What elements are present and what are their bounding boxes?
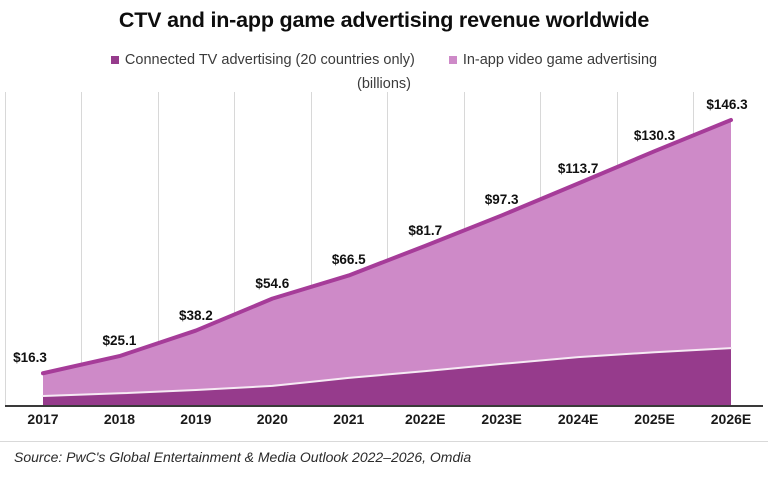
x-axis-label: 2021 bbox=[333, 411, 364, 427]
data-label: $81.7 bbox=[408, 223, 442, 238]
x-axis-labels: 201720182019202020212022E2023E2024E2025E… bbox=[0, 411, 768, 433]
chart-title: CTV and in-app game advertising revenue … bbox=[0, 8, 768, 33]
legend-label-in-app-video-game: In-app video game advertising bbox=[463, 52, 657, 68]
chart-container: CTV and in-app game advertising revenue … bbox=[0, 0, 768, 481]
legend-item-in-app-video-game[interactable]: In-app video game advertising bbox=[449, 52, 657, 68]
data-label: $146.3 bbox=[706, 97, 747, 112]
legend-swatch-in-app-video-game bbox=[449, 56, 457, 64]
legend-label-connected-tv: Connected TV advertising (20 countries o… bbox=[125, 52, 415, 68]
data-label: $97.3 bbox=[485, 192, 519, 207]
source-note: Source: PwC's Global Entertainment & Med… bbox=[14, 449, 471, 465]
x-axis-label: 2026E bbox=[711, 411, 751, 427]
data-label: $25.1 bbox=[103, 333, 137, 348]
footer-divider bbox=[0, 441, 768, 442]
data-label: $54.6 bbox=[255, 276, 289, 291]
data-label: $113.7 bbox=[558, 161, 599, 176]
chart-legend: Connected TV advertising (20 countries o… bbox=[0, 52, 768, 68]
legend-swatch-connected-tv bbox=[111, 56, 119, 64]
x-axis-label: 2017 bbox=[27, 411, 58, 427]
x-axis-label: 2023E bbox=[481, 411, 521, 427]
x-axis-label: 2024E bbox=[558, 411, 598, 427]
data-label: $38.2 bbox=[179, 308, 213, 323]
legend-item-connected-tv[interactable]: Connected TV advertising (20 countries o… bbox=[111, 52, 415, 68]
data-label: $66.5 bbox=[332, 252, 366, 267]
x-axis-label: 2019 bbox=[180, 411, 211, 427]
data-label: $16.3 bbox=[13, 350, 47, 365]
x-axis-label: 2025E bbox=[634, 411, 674, 427]
x-axis-label: 2018 bbox=[104, 411, 135, 427]
data-label: $130.3 bbox=[634, 128, 675, 143]
x-axis-label: 2020 bbox=[257, 411, 288, 427]
x-axis-line bbox=[5, 405, 763, 407]
x-axis-label: 2022E bbox=[405, 411, 445, 427]
